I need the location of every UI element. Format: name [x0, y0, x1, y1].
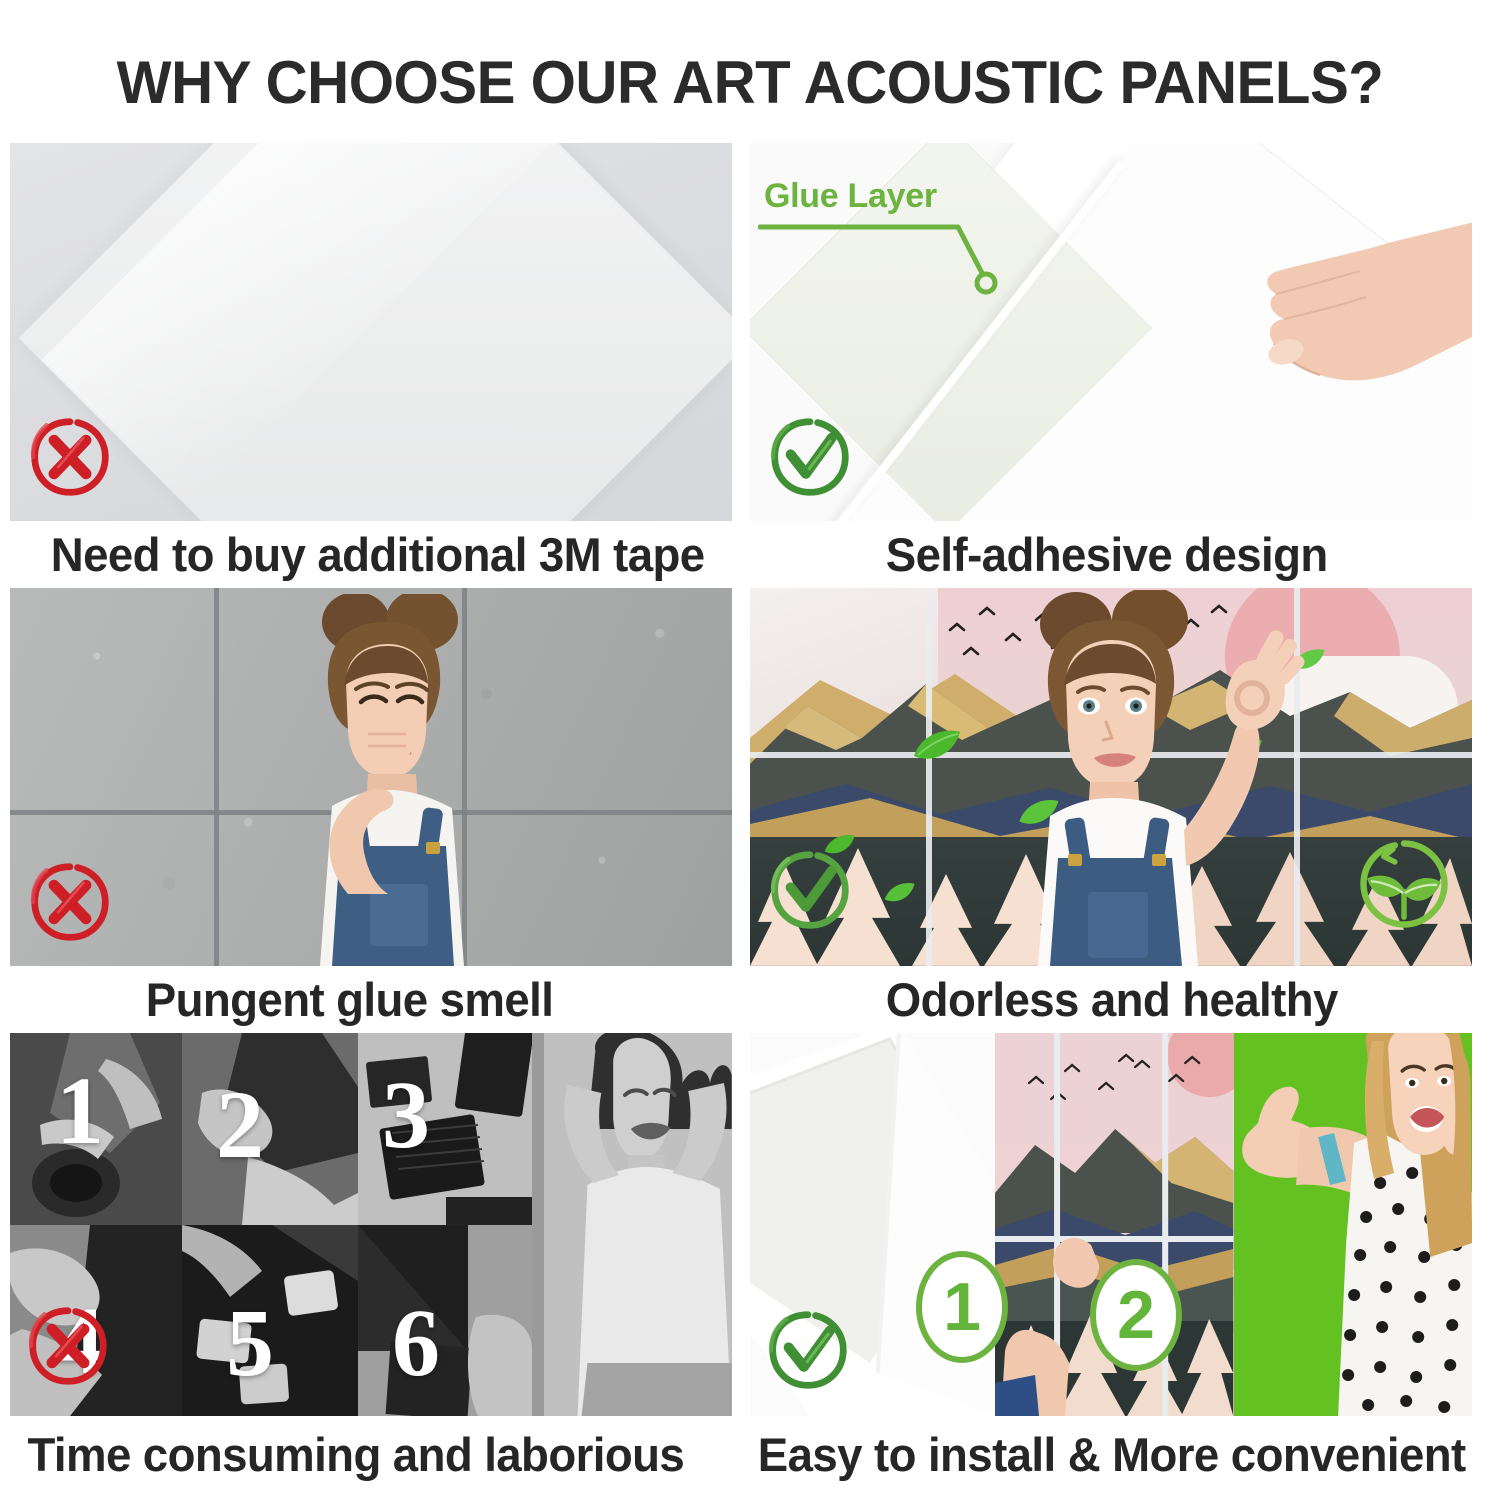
panel-easy-install-image: 1 2 — [750, 1033, 1472, 1416]
step-photo-2 — [182, 1033, 358, 1225]
panel-self-adhesive-image: Glue Layer — [750, 143, 1472, 521]
glue-layer-label: Glue Layer — [764, 177, 937, 216]
panel-laborious: 1 2 3 4 5 6 Time consuming and laborious — [10, 1033, 750, 1488]
panel-laborious-caption: Time consuming and laborious — [10, 1427, 710, 1482]
green-check-badge-icon — [766, 1308, 850, 1392]
panel-self-adhesive-caption: Self-adhesive design — [750, 527, 1450, 582]
panel-odorless: Odorless and healthy — [750, 588, 1490, 1033]
red-x-badge-icon — [28, 860, 112, 944]
girl-ok-sign-figure — [946, 590, 1316, 966]
panel-tape-caption: Need to buy additional 3M tape — [10, 527, 710, 582]
happy-woman-photo — [1234, 1033, 1472, 1416]
green-check-badge-icon — [768, 415, 852, 499]
eco-leaf-recycle-icon — [1358, 838, 1450, 930]
panel-odorless-caption: Odorless and healthy — [750, 972, 1450, 1027]
leaf-icon — [882, 880, 916, 906]
step-number: 3 — [382, 1067, 430, 1163]
panel-easy-install-caption: Easy to install & More convenient — [750, 1427, 1450, 1482]
panel-tape-image — [10, 143, 732, 521]
step-number: 2 — [216, 1077, 264, 1173]
frustrated-woman-photo — [544, 1033, 732, 1416]
panel-tape: Need to buy additional 3M tape — [10, 143, 750, 588]
step-badge-2: 2 — [1090, 1259, 1182, 1371]
panel-smell-caption: Pungent glue smell — [10, 972, 710, 1027]
panel-laborious-image: 1 2 3 4 5 6 — [10, 1033, 732, 1416]
panel-odorless-image — [750, 588, 1472, 966]
hand-peeling-icon — [1170, 213, 1472, 408]
panel-smell: Pungent glue smell — [10, 588, 750, 1033]
green-check-badge-icon — [768, 848, 852, 932]
step-badge-1: 1 — [916, 1251, 1008, 1363]
step-number: 5 — [226, 1295, 274, 1391]
step-photo-6 — [358, 1225, 532, 1416]
red-x-badge-icon — [28, 415, 112, 499]
panel-easy-install: 1 2 Easy to install & More convenient — [750, 1033, 1490, 1488]
page-title: WHY CHOOSE OUR ART ACOUSTIC PANELS? — [23, 48, 1478, 117]
girl-pinching-nose-figure — [220, 594, 550, 966]
step-number: 6 — [392, 1295, 440, 1391]
leader-line-circle-icon — [758, 221, 1008, 316]
step-number: 1 — [56, 1063, 104, 1159]
panel-smell-image — [10, 588, 732, 966]
ok-hand-icon — [1226, 638, 1298, 730]
red-x-badge-icon — [26, 1304, 110, 1388]
grayscale-collage: 1 2 3 4 5 6 — [10, 1033, 732, 1416]
comparison-grid: Need to buy additional 3M tape Glue Laye… — [10, 143, 1490, 1493]
panel-self-adhesive: Glue Layer Self-adhesive design — [750, 143, 1490, 588]
